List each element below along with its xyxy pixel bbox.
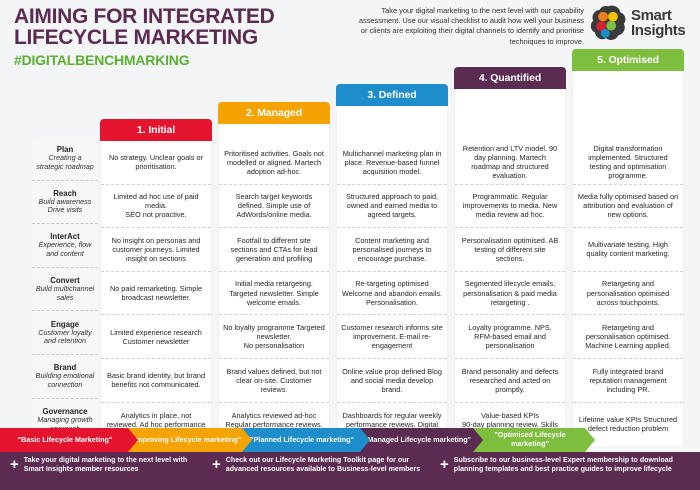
- stage-column-header: 5. Optimised: [572, 49, 684, 71]
- matrix-cell: Limited ad hoc use of paid media.SEO not…: [101, 185, 211, 229]
- footer-cta-text: Take your digital marketing to the next …: [24, 456, 206, 475]
- matrix-cell: Digital transformation implemented. Stru…: [573, 141, 683, 185]
- matrix-cell: Retention and LTV model. 90 day planning…: [455, 141, 565, 185]
- matrix-cell: Loyalty programme. NPS. RFM-based email …: [455, 315, 565, 359]
- stage-column[interactable]: 3. DefinedMultichannel marketing plan in…: [336, 84, 448, 446]
- row-label-column: PlanCreating astrategic roadmapReachBuil…: [32, 137, 98, 442]
- footer-cta[interactable]: +Check out our Lifecycle Marketing Toolk…: [212, 456, 434, 475]
- matrix-cell: Structured approach to paid, owned and e…: [337, 185, 447, 229]
- stage-column-body: Digital transformation implemented. Stru…: [572, 71, 684, 446]
- matrix-cell: Retargeting and personalisation optimise…: [573, 315, 683, 359]
- title-block: AIMING FOR INTEGRATED LIFECYCLE MARKETIN…: [14, 6, 274, 68]
- matrix-cell: Initial media retargeting. Targeted news…: [219, 272, 329, 316]
- stage-column-body: Pritoritised activities. Goals not model…: [218, 124, 330, 447]
- matrix-cell: Brand values defined, but not clear on-s…: [219, 359, 329, 403]
- matrix-cell: No paid remarketing. Simple broadcast ne…: [101, 272, 211, 316]
- stage-ribbon: "Optimised Lifecycle marketing": [473, 428, 595, 452]
- plus-icon: +: [212, 458, 221, 471]
- matrix-cell: Online value prop defined Blog and socia…: [337, 359, 447, 403]
- matrix-cell: Personalisation optimised. AB testing of…: [455, 228, 565, 272]
- row-label: ReachBuild awarenessDrive visits: [32, 181, 98, 225]
- row-label: ConvertBuild multichannelsales: [32, 268, 98, 312]
- stage-column-body: Multichannel marketing plan in place. Re…: [336, 106, 448, 446]
- stage-column[interactable]: 4. QuantifiedRetention and LTV model. 90…: [454, 67, 566, 447]
- stage-column-body: Retention and LTV model. 90 day planning…: [454, 89, 566, 447]
- matrix-cell: Programmatic. Regular improvements to me…: [455, 185, 565, 229]
- row-label-subtitle: Building emotionalconnection: [36, 372, 95, 389]
- matrix-cell: Retargeting and personalisation optimise…: [573, 272, 683, 316]
- logo-wordmark: Smart Insights: [631, 8, 685, 38]
- column-top-spacer: [219, 124, 329, 142]
- matrix-cell: No loyalty programme Targeted newsletter…: [219, 315, 329, 359]
- stage-column[interactable]: 5. OptimisedDigital transformation imple…: [572, 49, 684, 446]
- stage-column-header: 2. Managed: [218, 102, 330, 124]
- footer-cta[interactable]: +Take your digital marketing to the next…: [10, 456, 206, 475]
- matrix-cell: Fully integrated brand reputation manage…: [573, 359, 683, 403]
- stage-ribbon: "Improving Lifecycle marketing": [128, 428, 252, 452]
- plus-icon: +: [440, 458, 449, 471]
- stage-ribbon: "Basic Lifecycle Marketing": [0, 428, 138, 452]
- smart-insights-cloverleaf-logo-icon: [590, 5, 626, 41]
- brand-logo: Smart Insights: [590, 5, 685, 41]
- intro-paragraph: Take your digital marketing to the next …: [352, 6, 584, 47]
- footer-cta-text: Subscribe to our business-level Expert m…: [454, 456, 690, 475]
- row-label-subtitle: Build multichannelsales: [36, 285, 94, 302]
- matrix-cell: Brand personality and defects researched…: [455, 359, 565, 403]
- matrix-cell: Pritoritised activities. Goals not model…: [219, 141, 329, 185]
- page-title-line1: AIMING FOR INTEGRATED: [14, 6, 274, 27]
- matrix-cell: No strategy. Unclear goals or prioritisa…: [101, 141, 211, 185]
- matrix-cell: Segmented lifecycle emails, personalisat…: [455, 272, 565, 316]
- row-label-subtitle: Experience, flowand content: [39, 241, 92, 258]
- plus-icon: +: [10, 458, 19, 471]
- stage-column-header: 3. Defined: [336, 84, 448, 106]
- matrix-cell: Content marketing and personalised journ…: [337, 228, 447, 272]
- matrix-cell: Basic brand identity, but brand benefits…: [101, 359, 211, 403]
- stage-ribbon: "Managed Lifecycle marketing": [360, 428, 483, 452]
- stage-column-body: No strategy. Unclear goals or prioritisa…: [100, 141, 212, 446]
- matrix-cell: Re-targeting optimised Welcome and aband…: [337, 272, 447, 316]
- row-label: BrandBuilding emotionalconnection: [32, 355, 98, 399]
- stage-ribbon: "Planned Lifecycle marketing": [242, 428, 370, 452]
- matrix-cell: Footfall to different site sections and …: [219, 228, 329, 272]
- column-top-spacer: [337, 106, 447, 141]
- matrix-cell: Limited experience researchCustomer news…: [101, 315, 211, 359]
- footer-cta-text: Check out our Lifecycle Marketing Toolki…: [226, 456, 434, 475]
- row-label-subtitle: Customer loyaltyand retention: [38, 329, 92, 346]
- footer-cta[interactable]: +Subscribe to our business-level Expert …: [440, 456, 690, 475]
- infographic-root: AIMING FOR INTEGRATED LIFECYCLE MARKETIN…: [0, 0, 700, 490]
- logo-word-insights: Insights: [631, 23, 685, 38]
- stage-ribbon-bar: "Basic Lifecycle Marketing""Improving Li…: [0, 428, 700, 452]
- row-label: InterActExperience, flowand content: [32, 224, 98, 268]
- maturity-matrix: PlanCreating astrategic roadmapReachBuil…: [0, 62, 700, 430]
- matrix-cell: Customer research informs site improveme…: [337, 315, 447, 359]
- stage-column[interactable]: 2. ManagedPritoritised activities. Goals…: [218, 102, 330, 447]
- stage-column[interactable]: 1. InitialNo strategy. Unclear goals or …: [100, 119, 212, 446]
- row-label-subtitle: Build awarenessDrive visits: [39, 198, 92, 215]
- stage-column-header: 1. Initial: [100, 119, 212, 141]
- footer-cta-bar: +Take your digital marketing to the next…: [0, 452, 700, 490]
- matrix-cell: Media fully optimised based on attributi…: [573, 185, 683, 229]
- row-label-subtitle: Creating astrategic roadmap: [36, 154, 94, 171]
- column-top-spacer: [455, 89, 565, 142]
- matrix-cell: Search target keywords defined. Simple u…: [219, 185, 329, 229]
- row-label: EngageCustomer loyaltyand retention: [32, 311, 98, 355]
- logo-word-smart: Smart: [631, 8, 685, 23]
- matrix-cell: Multivariate testing. High quality conte…: [573, 228, 683, 272]
- matrix-cell: Multichannel marketing plan in place. Re…: [337, 141, 447, 185]
- stage-column-header: 4. Quantified: [454, 67, 566, 89]
- row-label: PlanCreating astrategic roadmap: [32, 137, 98, 181]
- column-top-spacer: [573, 71, 683, 141]
- page-title-line2: LIFECYCLE MARKETING: [14, 27, 274, 48]
- matrix-cell: No insight on personas and customer jour…: [101, 228, 211, 272]
